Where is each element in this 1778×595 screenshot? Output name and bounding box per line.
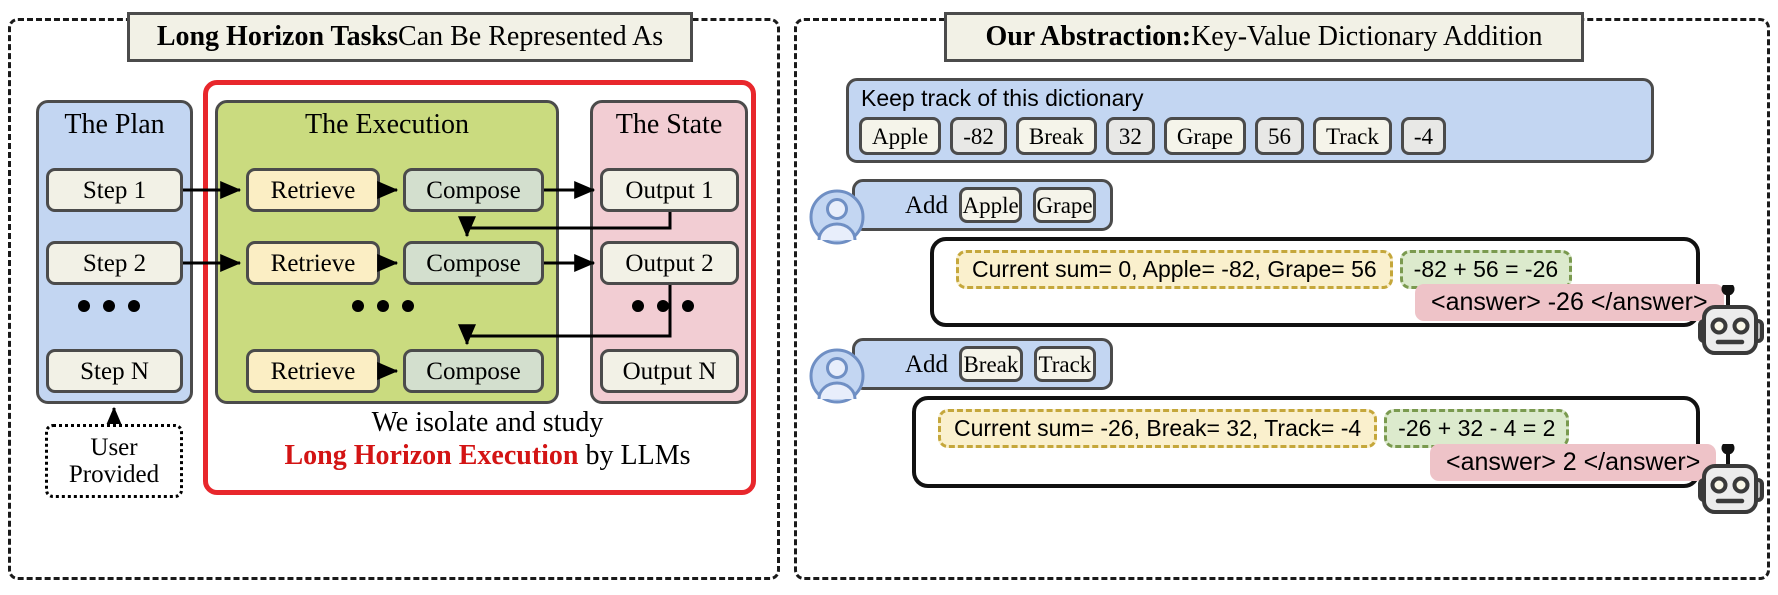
reasoning-state-1: Current sum= 0, Apple= -82, Grape= 56 [956,250,1393,289]
assistant-reasoning-2: Current sum= -26, Break= 32, Track= -4 -… [938,409,1569,448]
reasoning-state-2: Current sum= -26, Break= 32, Track= -4 [938,409,1377,448]
dict-key-chip: Apple [859,117,941,155]
execution-compose-2: Compose [403,241,544,285]
user-key-chip: Grape [1033,187,1096,223]
reasoning-math-2: -26 + 32 - 4 = 2 [1384,409,1569,448]
study-line-1: We isolate and study [215,406,760,439]
column-title-plan: The Plan [39,111,190,139]
column-title-execution: The Execution [218,111,556,139]
user-key-chip: Apple [959,187,1022,223]
right-caption-bold: Our Abstraction: [985,23,1191,51]
execution-compose-n: Compose [403,349,544,393]
state-ellipsis-icon [632,300,694,312]
dictionary-entries: Apple -82 Break 32 Grape 56 Track -4 [859,117,1446,155]
user-avatar-icon [808,188,866,246]
execution-retrieve-2: Retrieve [246,241,380,285]
execution-retrieve-n: Retrieve [246,349,380,393]
user-message-1: Add Apple Grape [852,179,1113,231]
dict-key-chip: Break [1016,117,1097,155]
study-caption: We isolate and study Long Horizon Execut… [215,406,760,472]
user-add-label: Add [905,352,948,377]
figure-root: Long Horizon Tasks Can Be Represented As… [0,0,1778,595]
plan-ellipsis-icon [78,300,140,312]
left-caption-rest: Can Be Represented As [398,23,663,51]
user-provided-line2: Provided [69,461,159,488]
user-provided-line1: User [90,434,137,461]
plan-step-n: Step N [46,349,183,393]
execution-compose-1: Compose [403,168,544,212]
left-panel-caption: Long Horizon Tasks Can Be Represented As [127,12,693,62]
plan-step-1: Step 1 [46,168,183,212]
right-panel-caption: Our Abstraction: Key-Value Dictionary Ad… [944,12,1584,62]
execution-ellipsis-icon [352,300,414,312]
study-line-2: Long Horizon Execution by LLMs [215,439,760,472]
dict-value-chip: -82 [950,117,1007,155]
dictionary-bubble: Keep track of this dictionary Apple -82 … [846,78,1654,163]
robot-icon [1698,444,1778,526]
user-key-chip: Track [1034,346,1096,382]
study-highlight: Long Horizon Execution [284,440,578,471]
dictionary-label: Keep track of this dictionary [861,87,1144,110]
dict-value-chip: -4 [1401,117,1446,155]
execution-retrieve-1: Retrieve [246,168,380,212]
state-output-1: Output 1 [600,168,739,212]
robot-icon [1698,285,1778,367]
user-avatar-icon [808,347,866,405]
user-provided-box: User Provided [45,424,183,498]
study-line-2-rest: by LLMs [579,440,691,471]
state-output-2: Output 2 [600,241,739,285]
dict-value-chip: 32 [1106,117,1155,155]
plan-step-2: Step 2 [46,241,183,285]
column-title-state: The State [593,111,745,139]
assistant-answer-2: <answer> 2 </answer> [1430,444,1716,481]
dict-key-chip: Grape [1164,117,1246,155]
right-caption-rest: Key-Value Dictionary Addition [1191,23,1542,51]
dict-value-chip: 56 [1255,117,1304,155]
assistant-answer-1: <answer> -26 </answer> [1415,284,1724,321]
user-add-label: Add [905,193,948,218]
user-key-chip: Break [959,346,1023,382]
left-caption-bold: Long Horizon Tasks [157,23,398,51]
state-output-n: Output N [600,349,739,393]
dict-key-chip: Track [1313,117,1392,155]
user-message-2: Add Break Track [852,338,1113,390]
